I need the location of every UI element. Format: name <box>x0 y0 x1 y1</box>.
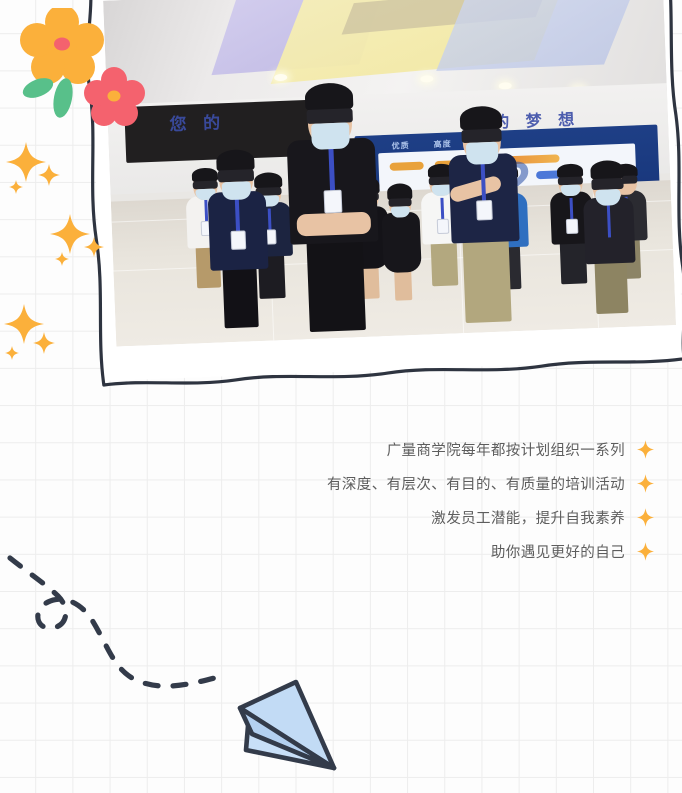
person <box>379 180 424 301</box>
ceiling-panel-blue <box>436 0 635 71</box>
legs <box>306 234 366 332</box>
blindfold <box>218 169 254 182</box>
sparkle-icon <box>50 214 90 254</box>
copy-line: 助你遇见更好的自己 <box>224 534 654 568</box>
flower-decoration-group <box>18 8 158 138</box>
orange-flower-icon <box>20 8 104 84</box>
sparkle-cluster <box>46 212 108 270</box>
sparkle-icon <box>637 474 654 493</box>
copy-block: 广量商学院每年都按计划组织一系列 有深度、有层次、有目的、有质量的培训活动 激发… <box>224 432 654 568</box>
id-badge <box>476 200 493 221</box>
banner-heading-1: 优质 <box>391 140 409 152</box>
wall-text-left: 您 的 <box>169 109 227 136</box>
photo-card: 您 的 我 的 梦 想 优质 高度 贴心 2 <box>89 0 682 381</box>
sparkle-icon <box>637 508 654 527</box>
legs <box>462 235 511 323</box>
copy-line: 激发员工潜能，提升自我素养 <box>224 500 654 534</box>
dashed-trail-icon <box>0 548 266 738</box>
green-leaf-icon <box>20 74 76 119</box>
legs <box>223 263 259 328</box>
person <box>580 163 640 315</box>
face-mask <box>466 141 499 164</box>
training-group-photo: 您 的 我 的 梦 想 优质 高度 贴心 2 <box>103 0 676 346</box>
id-badge <box>323 190 342 214</box>
id-badge <box>231 231 247 251</box>
crossed-arms <box>296 212 371 237</box>
photo-window: 您 的 我 的 梦 想 优质 高度 贴心 2 <box>103 0 676 346</box>
blindfold <box>592 178 624 190</box>
face-mask <box>222 181 252 200</box>
legs <box>595 257 629 314</box>
face-mask <box>311 122 350 149</box>
downlight <box>420 75 433 82</box>
copy-line: 广量商学院每年都按计划组织一系列 <box>224 432 654 466</box>
sparkle-icon <box>637 542 654 561</box>
sparkle-icon <box>38 164 60 186</box>
sparkle-cluster <box>0 300 62 362</box>
sparkle-icon <box>6 142 46 182</box>
copy-line-text: 助你遇见更好的自己 <box>491 541 625 562</box>
person-foreground-navy <box>204 147 273 329</box>
sparkle-icon <box>55 252 69 266</box>
person-foreground-main <box>280 79 386 333</box>
copy-line-text: 有深度、有层次、有目的、有质量的培训活动 <box>327 473 625 494</box>
torso <box>381 212 421 273</box>
legs <box>394 269 412 302</box>
sparkle-icon <box>9 180 23 194</box>
sparkle-icon <box>84 237 104 257</box>
id-badge <box>566 219 579 234</box>
sparkle-icon <box>33 332 55 354</box>
copy-line-text: 激发员工潜能，提升自我素养 <box>431 507 625 528</box>
paper-plane-icon <box>236 676 342 776</box>
person-foreground-pointing <box>444 111 526 324</box>
pink-flower-icon <box>84 67 145 126</box>
poster-canvas: 您 的 我 的 梦 想 优质 高度 贴心 2 <box>0 0 682 793</box>
copy-line: 有深度、有层次、有目的、有质量的培训活动 <box>224 466 654 500</box>
sparkle-icon <box>5 346 19 360</box>
hair <box>459 105 502 131</box>
downlight <box>274 73 287 80</box>
blindfold <box>461 128 501 143</box>
sparkle-icon <box>637 440 654 459</box>
copy-line-text: 广量商学院每年都按计划组织一系列 <box>387 439 625 460</box>
sparkle-icon <box>4 304 44 344</box>
sparkle-cluster <box>4 140 66 200</box>
